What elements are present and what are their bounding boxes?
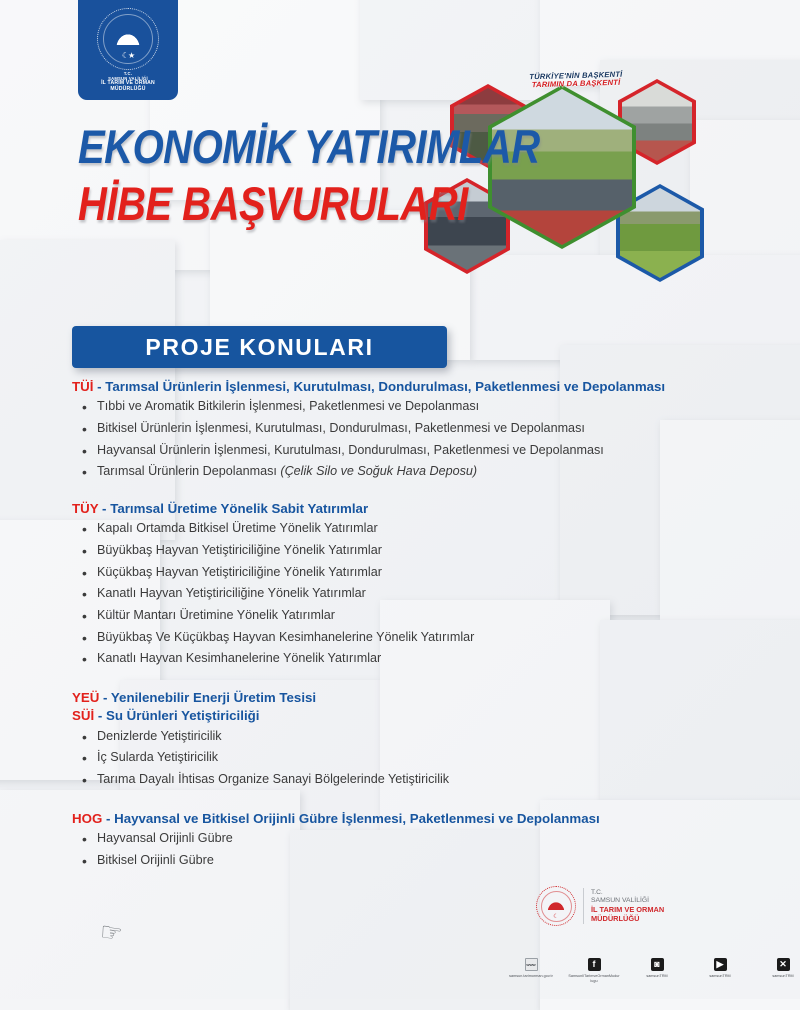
list-item-text: Kapalı Ortamda Bitkisel Üretime Yönelik … — [97, 521, 378, 535]
section-dash: - — [94, 708, 106, 723]
list-item-text: Hayvansal Orijinli Gübre — [97, 831, 233, 845]
social-item[interactable]: fSamsunIlTarimveOrmanMudurlugu — [568, 958, 620, 983]
footer-logo-line-1: T.C. — [591, 889, 664, 897]
section-spacer — [72, 483, 752, 500]
section-heading: TÜİ - Tarımsal Ürünlerin İşlenmesi, Kuru… — [72, 378, 752, 396]
list-item: Kanatlı Hayvan Yetiştiriciliğine Yönelik… — [72, 583, 752, 605]
social-handle: samsunTRM — [631, 974, 683, 979]
list-item: Hayvansal Ürünlerin İşlenmesi, Kurutulma… — [72, 440, 752, 462]
section-code: TÜY — [72, 501, 98, 516]
bullet-list: Kapalı Ortamda Bitkisel Üretime Yönelik … — [72, 518, 752, 670]
footer-logo-line-4: MÜDÜRLÜĞÜ — [591, 914, 664, 923]
banner-label: PROJE KONULARI — [145, 334, 373, 361]
section-code: HOG — [72, 811, 102, 826]
list-item-text: Bitkisel Ürünlerin İşlenmesi, Kurutulmas… — [97, 421, 585, 435]
pointing-hand-icon: ☞ — [98, 917, 124, 950]
section-title: Tarımsal Ürünlerin İşlenmesi, Kurutulmas… — [105, 379, 665, 394]
social-handle: samsun.tarimorman.gov.tr — [505, 974, 557, 979]
instagram-icon[interactable]: ◙ — [651, 958, 664, 971]
list-item-text: Tıbbi ve Aromatik Bitkilerin İşlenmesi, … — [97, 399, 479, 413]
section-TÜİ: TÜİ - Tarımsal Ürünlerin İşlenmesi, Kuru… — [72, 378, 752, 483]
list-item: Hayvansal Orijinli Gübre — [72, 828, 752, 850]
list-item: Tıbbi ve Aromatik Bitkilerin İşlenmesi, … — [72, 396, 752, 418]
facebook-icon[interactable]: f — [588, 958, 601, 971]
headline-line-2: HİBE BAŞVURULARI — [78, 181, 540, 228]
list-item: Kültür Mantarı Üretimine Yönelik Yatırım… — [72, 605, 752, 627]
section-title: Yenilenebilir Enerji Üretim Tesisi — [111, 690, 316, 705]
section-spacer — [72, 791, 752, 810]
social-media-row: wwwsamsun.tarimorman.gov.trfSamsunIlTari… — [505, 958, 800, 983]
collage-slogan: TÜRKİYE'NİN BAŞKENTİ TARIMIN DA BAŞKENTİ — [514, 70, 638, 89]
social-item[interactable]: wwwsamsun.tarimorman.gov.tr — [505, 958, 557, 979]
list-item-note: (Çelik Silo ve Soğuk Hava Deposu) — [280, 464, 477, 478]
list-item-text: Tarıma Dayalı İhtisas Organize Sanayi Bö… — [97, 772, 449, 786]
list-item: Kapalı Ortamda Bitkisel Üretime Yönelik … — [72, 518, 752, 540]
footer-logo-line-2: SAMSUN VALİLİĞİ — [591, 897, 664, 905]
bullet-list: Denizlerde Yetiştiricilikİç Sularda Yeti… — [72, 726, 752, 791]
list-item: Tarımsal Ürünlerin Depolanması (Çelik Si… — [72, 461, 752, 483]
crest-line-4: MÜDÜRLÜĞÜ — [101, 87, 155, 93]
section-code: TÜİ — [72, 379, 93, 394]
social-handle: SamsunIlTarimveOrmanMudurlugu — [568, 974, 620, 983]
footer-logo-line-3: İL TARIM VE ORMAN — [591, 905, 664, 914]
website-icon[interactable]: www — [525, 958, 538, 971]
list-item-text: Kanatlı Hayvan Kesimhanelerine Yönelik Y… — [97, 651, 381, 665]
list-item: İç Sularda Yetiştiricilik — [72, 747, 752, 769]
list-item: Tarıma Dayalı İhtisas Organize Sanayi Bö… — [72, 769, 752, 791]
list-item: Denizlerde Yetiştiricilik — [72, 726, 752, 748]
list-item: Bitkisel Orijinli Gübre — [72, 850, 752, 872]
section-dash: - — [93, 379, 105, 394]
list-item-text: Kanatlı Hayvan Yetiştiriciliğine Yönelik… — [97, 586, 366, 600]
list-item-text: İç Sularda Yetiştiricilik — [97, 750, 218, 764]
social-item[interactable]: ✕samsunTRM — [757, 958, 800, 979]
list-item-text: Büyükbaş Ve Küçükbaş Hayvan Kesimhaneler… — [97, 630, 474, 644]
section-spacer — [72, 670, 752, 689]
headline-line-1: EKONOMİK YATIRIMLAR — [78, 124, 540, 171]
section-code: SÜİ — [72, 708, 94, 723]
section-title: Hayvansal ve Bitkisel Orijinli Gübre İşl… — [114, 811, 600, 826]
list-item-text: Bitkisel Orijinli Gübre — [97, 853, 214, 867]
social-handle: samsunTRM — [757, 974, 800, 979]
bullet-list: Hayvansal Orijinli GübreBitkisel Orijinl… — [72, 828, 752, 871]
section-SÜİ: SÜİ - Su Ürünleri YetiştiriciliğiDenizle… — [72, 707, 752, 790]
section-heading: YEÜ - Yenilenebilir Enerji Üretim Tesisi — [72, 689, 752, 707]
bullet-list: Tıbbi ve Aromatik Bitkilerin İşlenmesi, … — [72, 396, 752, 483]
social-item[interactable]: ▶samsunTRM — [694, 958, 746, 979]
section-dash: - — [98, 501, 110, 516]
list-item-text: Hayvansal Ürünlerin İşlenmesi, Kurutulma… — [97, 443, 604, 457]
section-title: Tarımsal Üretime Yönelik Sabit Yatırımla… — [110, 501, 368, 516]
section-heading: SÜİ - Su Ürünleri Yetiştiriciliği — [72, 707, 752, 725]
list-item: Büyükbaş Ve Küçükbaş Hayvan Kesimhaneler… — [72, 627, 752, 649]
section-code: YEÜ — [72, 690, 99, 705]
footer-institution-logo: ☾ T.C. SAMSUN VALİLİĞİ İL TARIM VE ORMAN… — [536, 886, 664, 926]
section-dash: - — [102, 811, 114, 826]
twitter-x-icon[interactable]: ✕ — [777, 958, 790, 971]
list-item-text: Küçükbaş Hayvan Yetiştiriciliğine Yöneli… — [97, 565, 382, 579]
list-item-text: Büyükbaş Hayvan Yetiştiriciliğine Yöneli… — [97, 543, 382, 557]
project-subjects-list: TÜİ - Tarımsal Ürünlerin İşlenmesi, Kuru… — [72, 378, 752, 871]
section-HOG: HOG - Hayvansal ve Bitkisel Orijinli Güb… — [72, 810, 752, 872]
section-heading: HOG - Hayvansal ve Bitkisel Orijinli Güb… — [72, 810, 752, 828]
list-item-text: Denizlerde Yetiştiricilik — [97, 729, 222, 743]
section-title: Su Ürünleri Yetiştiriciliği — [106, 708, 259, 723]
social-handle: samsunTRM — [694, 974, 746, 979]
list-item: Bitkisel Ürünlerin İşlenmesi, Kurutulmas… — [72, 418, 752, 440]
page-title: EKONOMİK YATIRIMLAR HİBE BAŞVURULARI — [78, 124, 540, 221]
list-item: Küçükbaş Hayvan Yetiştiriciliğine Yöneli… — [72, 562, 752, 584]
section-TÜY: TÜY - Tarımsal Üretime Yönelik Sabit Yat… — [72, 500, 752, 670]
list-item-text: Kültür Mantarı Üretimine Yönelik Yatırım… — [97, 608, 335, 622]
divider — [583, 888, 584, 924]
social-item[interactable]: ◙samsunTRM — [631, 958, 683, 979]
section-YEÜ: YEÜ - Yenilenebilir Enerji Üretim Tesisi — [72, 689, 752, 707]
list-item: Kanatlı Hayvan Kesimhanelerine Yönelik Y… — [72, 648, 752, 670]
list-item: Büyükbaş Hayvan Yetiştiriciliğine Yöneli… — [72, 540, 752, 562]
section-banner-proje-konulari: PROJE KONULARI — [72, 326, 447, 368]
crescent-star-emblem-icon: ☾★ — [97, 8, 159, 70]
institution-crest: ☾★ T.C. SAMSUN VALİLİĞİ İL TARIM VE ORMA… — [78, 0, 178, 100]
crescent-star-emblem-icon: ☾ — [536, 886, 576, 926]
list-item-text: Tarımsal Ürünlerin Depolanması — [97, 464, 280, 478]
section-dash: - — [99, 690, 111, 705]
section-heading: TÜY - Tarımsal Üretime Yönelik Sabit Yat… — [72, 500, 752, 518]
youtube-icon[interactable]: ▶ — [714, 958, 727, 971]
